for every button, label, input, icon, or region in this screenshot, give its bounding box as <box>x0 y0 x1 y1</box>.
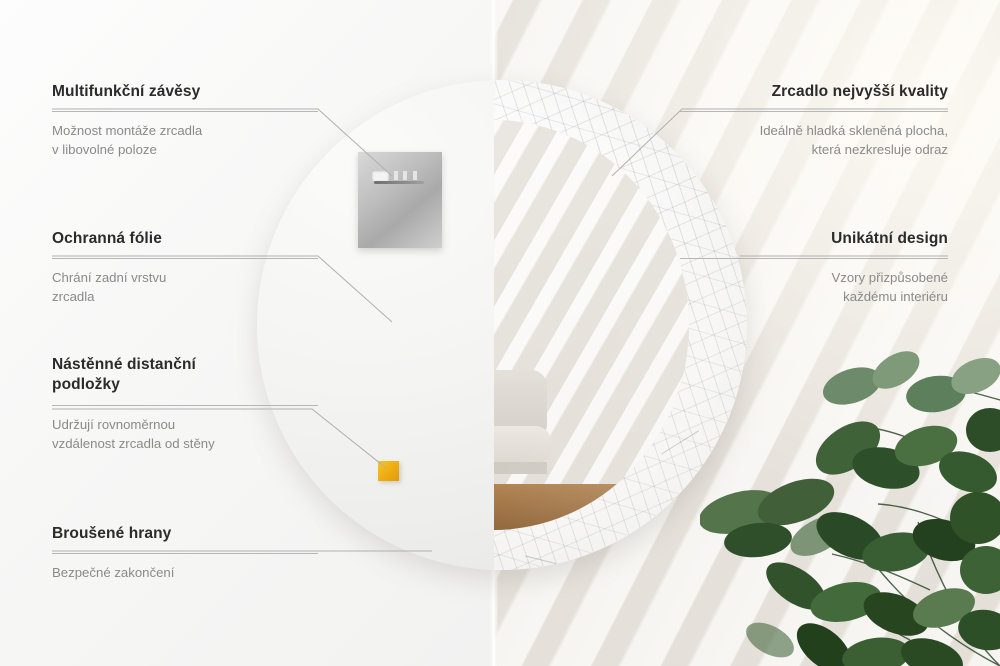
callout-nastenne-distancni-podlozky: Nástěnné distanční podložky Udržují rovn… <box>52 355 318 453</box>
callout-rule <box>680 258 948 259</box>
callout-rule <box>52 258 318 259</box>
callout-title: Ochranná fólie <box>52 229 318 249</box>
callout-zrcadlo-nejvyssi-kvality: Zrcadlo nejvyšší kvality Ideálně hladká … <box>680 82 948 160</box>
callout-body-line2: každému interiéru <box>680 288 948 307</box>
callout-title: Unikátní design <box>680 229 948 249</box>
callout-title-line2: podložky <box>52 375 318 395</box>
callout-title: Broušené hrany <box>52 524 318 544</box>
callout-rule <box>52 405 318 406</box>
callout-multifunkcni-zavesy: Multifunkční závěsy Možnost montáže zrca… <box>52 82 318 160</box>
callout-body-line2: vzdálenost zrcadla od stěny <box>52 435 318 454</box>
callout-body-line1: Ideálně hladká skleněná plocha, <box>680 122 948 141</box>
callout-title-line1: Nástěnné distanční <box>52 355 318 375</box>
callout-body-line2: zrcadla <box>52 288 318 307</box>
callout-body-line1: Bezpečné zakončení <box>52 564 318 583</box>
spacer-pad <box>378 461 399 481</box>
callout-body-line2: která nezkresluje odraz <box>680 141 948 160</box>
round-mirror-product <box>257 80 747 570</box>
callout-unikatni-design: Unikátní design Vzory přizpůsobené každé… <box>680 229 948 307</box>
wall-hanger-plate <box>358 152 442 248</box>
keyhole-slot <box>372 170 426 182</box>
infographic-canvas: Multifunkční závěsy Možnost montáže zrca… <box>0 0 1000 666</box>
callout-body-line1: Možnost montáže zrcadla <box>52 122 318 141</box>
callout-brousene-hrany: Broušené hrany Bezpečné zakončení <box>52 524 318 583</box>
callout-ochranna-folie: Ochranná fólie Chrání zadní vrstvu zrcad… <box>52 229 318 307</box>
callout-body-line1: Vzory přizpůsobené <box>680 269 948 288</box>
callout-title: Multifunkční závěsy <box>52 82 318 102</box>
callout-body-line2: v libovolné poloze <box>52 141 318 160</box>
bamboo-motif <box>525 556 564 567</box>
callout-rule <box>52 111 318 112</box>
callout-rule <box>52 553 318 554</box>
callout-title: Zrcadlo nejvyšší kvality <box>680 82 948 102</box>
callout-rule <box>680 111 948 112</box>
callout-body-line1: Chrání zadní vrstvu <box>52 269 318 288</box>
callout-body-line1: Udržují rovnoměrnou <box>52 416 318 435</box>
